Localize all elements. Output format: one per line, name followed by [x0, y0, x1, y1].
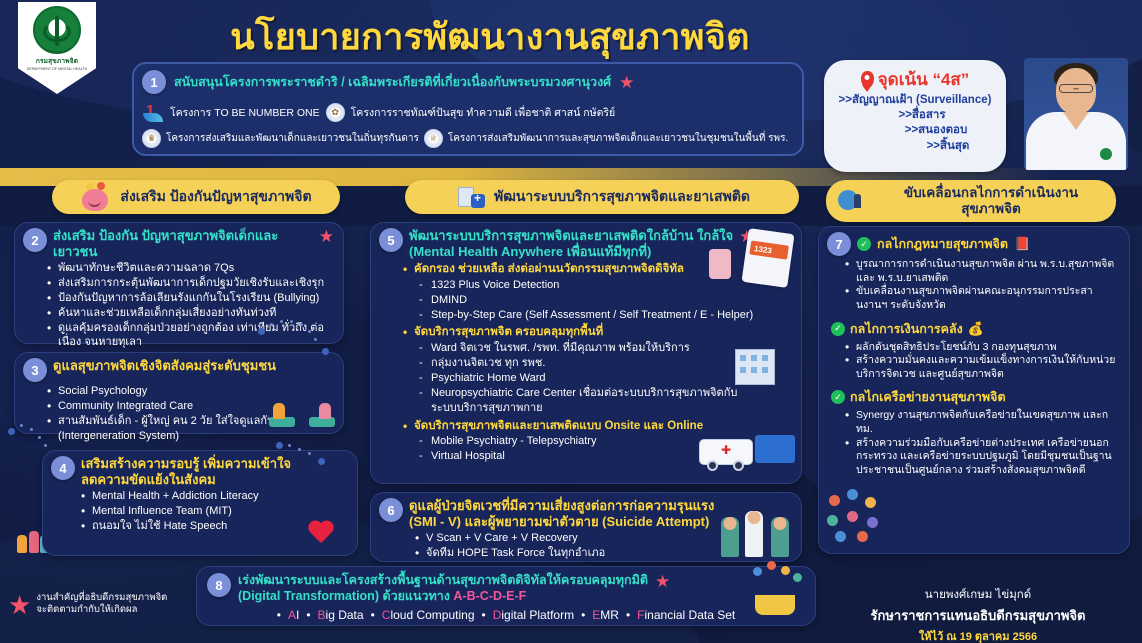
caduceus-icon [33, 6, 81, 54]
title-main: นโยบายการพัฒนางานสุขภาพจิต [230, 8, 750, 65]
keyword-initial: B [318, 608, 326, 622]
card7-group2-bullets: ผลักดันชุดสิทธิประโยชน์กับ 3 กองทุนสุขภา… [845, 341, 1120, 382]
medical-kit-icon [454, 183, 488, 211]
card7-group2-heading: กลไกการเงินการคลัง [850, 319, 963, 339]
royal-project-4: โครงการส่งเสริมพัฒนาการและสุขภาพจิตเด็กแ… [448, 131, 788, 146]
crown-emblem-icon: ♛ [142, 129, 161, 148]
star-icon: ★ [319, 228, 334, 245]
card7-group3-heading: กลไกเครือข่ายงานสุขภาพจิต [850, 387, 1006, 407]
card5-group-3: จัดบริการสุขภาพจิตและยาเสพติดแบบ Onsite … [403, 419, 792, 435]
keyword-rest: igital Platform [501, 608, 574, 622]
card5-group-2-items: Ward จิตเวช ในรพศ. /รพท. ที่มีคุณภาพ พร้… [419, 341, 792, 417]
star-icon: ★ [8, 592, 31, 618]
star-icon: ★ [655, 573, 670, 590]
section-pill-label-line2: สุขภาพจิต [961, 201, 1021, 217]
section-pill-promotion: ส่งเสริม ป้องกันปัญหาสุขภาพจิต [52, 180, 340, 214]
card2-title: ส่งเสริม ป้องกัน ปัญหาสุขภาพจิตเด็กและเย… [53, 228, 313, 259]
royal-project-2: โครงการราชทัณฑ์ปันสุข ทำความดี เพื่อชาติ… [351, 104, 616, 121]
keyword: Cloud Computing [382, 608, 475, 622]
card-psychosocial-community: 3 ดูแลสุขภาพจิตเชิงจิตสังคมสู่ระดับชุมชน… [14, 352, 344, 434]
focus-box-list: >>สัญญาณเฝ้า (Surveillance) >>สื่อสาร >>… [830, 93, 1000, 154]
card8-title-line1: เร่งพัฒนาระบบและโครงสร้างพื้นฐานด้านสุขภ… [238, 573, 648, 589]
section-pill-services: พัฒนาระบบบริการสุขภาพจิตและยาเสพติด [405, 180, 799, 214]
list-item: Mobile Psychiatry - Telepsychiatry [419, 434, 792, 449]
list-item: Synergy งานสุขภาพจิตกับเครือข่ายในเขตสุข… [845, 409, 1120, 436]
footer-note-line1: งานสำคัญที่อธิบดีกรมสุขภาพจิต [36, 592, 167, 603]
keyword: Big Data [318, 608, 364, 622]
section-pill-label: ส่งเสริม ป้องกันปัญหาสุขภาพจิต [120, 186, 311, 208]
focus-box-header: จุดเน้น “4ส” [830, 66, 1000, 93]
group-heading: คัดกรอง ช่วยเหลือ ส่งต่อผ่านนวัตกรรมสุขภ… [403, 262, 792, 278]
card2-bullets: พัฒนาทักษะชีวิตและความฉลาด 7Qs ส่งเสริมก… [47, 261, 334, 350]
keyword: Financial Data Set [637, 608, 735, 622]
list-item: 1323 Plus Voice Detection [419, 278, 792, 293]
item-number-badge-1: 1 [142, 70, 166, 94]
list-item: Mental Influence Team (MIT) [81, 504, 348, 519]
focus-4s-box: จุดเน้น “4ส” >>สัญญาณเฝ้า (Surveillance)… [824, 60, 1006, 172]
department-logo: กรมสุขภาพจิต DEPARTMENT OF MENTAL HEALTH [18, 2, 96, 94]
brain-kids-icon [80, 183, 114, 211]
card-child-youth-prevention: 2 ส่งเสริม ป้องกัน ปัญหาสุขภาพจิตเด็กและ… [14, 222, 344, 344]
card3-title: ดูแลสุขภาพจิตเชิงจิตสังคมสู่ระดับชุมชน [53, 358, 276, 374]
card5-group-1-items: 1323 Plus Voice Detection DMIND Step-by-… [419, 278, 792, 324]
logo-name-en: DEPARTMENT OF MENTAL HEALTH [27, 67, 87, 71]
digital-basket-illustration [749, 561, 807, 615]
logo-name-th: กรมสุขภาพจิต [36, 56, 78, 66]
list-item: V Scan + V Care + V Recovery [415, 531, 792, 546]
signer-name: นายพงศ์เกษม ไข่มุกด์ [828, 586, 1128, 604]
royal-projects-card: 1 สนับสนุนโครงการพระราชดำริ / เฉลิมพระเก… [132, 62, 804, 156]
keyword-rest: ig Data [326, 608, 364, 622]
check-circle-icon: ✓ [831, 390, 845, 404]
item-number-badge-2: 2 [23, 228, 47, 252]
footer-signature: นายพงศ์เกษม ไข่มุกด์ รักษาราชการแทนอธิบด… [828, 586, 1128, 643]
card8-title-line2: (Digital Transformation) ด้วยแนวทาง A-B-… [238, 589, 648, 605]
list-item: ผลักดันชุดสิทธิประโยชน์กับ 3 กองทุนสุขภา… [845, 341, 1120, 355]
royal-seal-icon: ✿ [326, 103, 345, 122]
card-literacy-conflict: 4 เสริมสร้างความรอบรู้ เพิ่มความเข้าใจ ล… [42, 450, 358, 556]
list-item: Community Integrated Care [47, 399, 334, 414]
check-circle-icon: ✓ [857, 237, 871, 251]
money-bag-icon: 💰 [968, 321, 984, 337]
card7-group1-bullets: บูรณาการการดำเนินงานสุขภาพจิต ผ่าน พ.ร.บ… [845, 258, 1120, 313]
card-smi-v-suicide: 6 ดูแลผู้ป่วยจิตเวชที่มีความเสี่ยงสูงต่อ… [370, 492, 802, 562]
signer-position: รักษาราชการแทนอธิบดีกรมสุขภาพจิต [828, 605, 1128, 626]
director-portrait-photo [1024, 58, 1128, 170]
list-item: ส่งเสริมการกระตุ้นพัฒนาการเด็กปฐมวัยเชิง… [47, 276, 334, 291]
keyword: AI [288, 608, 299, 622]
card8-title-line2-pre: (Digital Transformation) ด้วยแนวทาง [238, 589, 453, 603]
card7-group3-bullets: Synergy งานสุขภาพจิตกับเครือข่ายในเขตสุข… [845, 409, 1120, 477]
list-item: ป้องกันปัญหาการล้อเลียนรังแกกันในโรงเรีย… [47, 291, 334, 306]
list-item: Virtual Hospital [419, 449, 792, 464]
keyword-initial: F [637, 608, 644, 622]
card5-header: 5 พัฒนาระบบบริการสุขภาพจิตและยาเสพติดใกล… [379, 228, 792, 259]
law-book-icon: 📕 [1014, 236, 1030, 252]
community-globe-icon [834, 187, 868, 215]
star-icon: ★ [739, 228, 754, 245]
keyword: Digital Platform [493, 608, 574, 622]
signature-date: ให้ไว้ ณ 19 ตุลาคม 2566 [828, 627, 1128, 643]
section-pill-label-line1: ขับเคลื่อนกลไกการดำเนินงาน [904, 185, 1078, 201]
item-number-badge-7: 7 [827, 232, 851, 256]
card2-header: 2 ส่งเสริม ป้องกัน ปัญหาสุขภาพจิตเด็กและ… [23, 228, 334, 259]
list-item: สร้างความร่วมมือกับเครือข่ายต่างประเทศ เ… [845, 437, 1120, 478]
check-circle-icon: ✓ [831, 322, 845, 336]
group-heading: จัดบริการสุขภาพจิตและยาเสพติดแบบ Onsite … [403, 419, 792, 435]
royal-project-3: โครงการส่งเสริมและพัฒนาเด็กและเยาวชนในถิ… [166, 131, 419, 146]
card-driving-mechanisms: 7 ✓ กลไกกฎหมายสุขภาพจิต 📕 บูรณาการการดำเ… [818, 226, 1130, 554]
card5-title-line1: พัฒนาระบบบริการสุขภาพจิตและยาเสพติดใกล้บ… [409, 228, 733, 244]
item-number-badge-4: 4 [51, 456, 75, 480]
footer-note-left: ★ งานสำคัญที่อธิบดีกรมสุขภาพจิต จะติดตาม… [8, 592, 167, 618]
footer-note-line2: จะติดตามกำกับให้เกิดผล [36, 604, 137, 615]
card5-group-1: คัดกรอง ช่วยเหลือ ส่งต่อผ่านนวัตกรรมสุขภ… [403, 262, 792, 278]
focus-box-title: จุดเน้น “4ส” [878, 66, 970, 93]
list-item: ดูแลคุ้มครองเด็กกลุ่มป่วยอย่างถูกต้อง เท… [47, 321, 334, 351]
card4-title-line1: เสริมสร้างความรอบรู้ เพิ่มความเข้าใจ [81, 456, 291, 472]
card3-bullets: Social Psychology Community Integrated C… [47, 384, 334, 443]
item-number-badge-3: 3 [23, 358, 47, 382]
card5-group-3-items: Mobile Psychiatry - Telepsychiatry Virtu… [419, 434, 792, 464]
card8-abcdef: A-B-C-D-E-F [453, 589, 526, 603]
star-icon: ★ [619, 74, 634, 91]
keyword-rest: MR [600, 608, 619, 622]
card7-header: 7 ✓ กลไกกฎหมายสุขภาพจิต 📕 [827, 232, 1120, 256]
card-service-system-development: 5 พัฒนาระบบบริการสุขภาพจิตและยาเสพติดใกล… [370, 222, 802, 484]
card3-header: 3 ดูแลสุขภาพจิตเชิงจิตสังคมสู่ระดับชุมชน [23, 358, 334, 382]
royal-card-title: สนับสนุนโครงการพระราชดำริ / เฉลิมพระเกีย… [174, 72, 611, 92]
keyword-rest: inancial Data Set [645, 608, 736, 622]
card6-header: 6 ดูแลผู้ป่วยจิตเวชที่มีความเสี่ยงสูงต่อ… [379, 498, 792, 529]
card4-header: 4 เสริมสร้างความรอบรู้ เพิ่มความเข้าใจ ล… [51, 456, 348, 487]
list-item: กลุ่มงานจิตเวช ทุก รพช. [419, 356, 792, 371]
to-be-number-one-icon: 1 [142, 101, 164, 123]
keyword-rest: loud Computing [390, 608, 474, 622]
list-item: สร้างความมั่นคงและความเข้มแข็งทางการเงิน… [845, 354, 1120, 381]
card-digital-transformation: 8 เร่งพัฒนาระบบและโครงสร้างพื้นฐานด้านสุ… [196, 566, 816, 626]
royal-projects-row-1: 1 โครงการ TO BE NUMBER ONE ✿ โครงการราชท… [142, 101, 792, 123]
location-pin-icon [861, 71, 874, 88]
keyword-rest: I [296, 608, 299, 622]
list-item: พัฒนาทักษะชีวิตและความฉลาด 7Qs [47, 261, 334, 276]
list-item: Psychiatric Home Ward [419, 371, 792, 386]
keyword: EMR [592, 608, 619, 622]
list-item: Ward จิตเวช ในรพศ. /รพท. ที่มีคุณภาพ พร้… [419, 341, 792, 356]
card7-group1-heading: กลไกกฎหมายสุขภาพจิต [877, 234, 1008, 254]
list-item: Mental Health + Addiction Literacy [81, 489, 348, 504]
list-item: ค้นหาและช่วยเหลือเด็กกลุ่มเสี่ยงอย่างทัน… [47, 306, 334, 321]
section-pill-label: พัฒนาระบบบริการสุขภาพจิตและยาเสพติด [494, 186, 750, 208]
list-item: Social Psychology [47, 384, 334, 399]
royal-project-1: โครงการ TO BE NUMBER ONE [170, 104, 320, 121]
keyword-initial: A [288, 608, 296, 622]
focus-item: >>สัญญาณเฝ้า (Surveillance) [830, 93, 1000, 108]
list-item: สานสัมพันธ์เด็ก - ผู้ใหญ่ คน 2 วัย ใส่ใจ… [47, 414, 334, 444]
item-number-badge-5: 5 [379, 228, 403, 252]
list-item: DMIND [419, 293, 792, 308]
infographic-poster: กรมสุขภาพจิต DEPARTMENT OF MENTAL HEALTH… [0, 0, 1142, 643]
network-people-illustration [825, 489, 887, 545]
item-number-badge-8: 8 [207, 573, 231, 597]
card4-bullets: Mental Health + Addiction Literacy Menta… [81, 489, 348, 534]
royal-card-header: 1 สนับสนุนโครงการพระราชดำริ / เฉลิมพระเก… [142, 70, 792, 94]
card7-group3-header: ✓ กลไกเครือข่ายงานสุขภาพจิต [831, 387, 1120, 407]
group-heading: จัดบริการสุขภาพจิต ครอบคลุมทุกพื้นที่ [403, 325, 792, 341]
list-item: ขับเคลื่อนงานสุขภาพจิตผ่านคณะอนุกรรมการป… [845, 285, 1120, 312]
royal-hospital-icon: ♕ [424, 129, 443, 148]
footer-note-text: งานสำคัญที่อธิบดีกรมสุขภาพจิต จะติดตามกำ… [36, 592, 167, 617]
list-item: บูรณาการการดำเนินงานสุขภาพจิต ผ่าน พ.ร.บ… [845, 258, 1120, 285]
royal-projects-row-2: ♛ โครงการส่งเสริมและพัฒนาเด็กและเยาวชนใน… [142, 129, 792, 148]
focus-item: >>สื่อสาร [830, 108, 1000, 123]
card5-title-line2: (Mental Health Anywhere เพื่อนแท้มีทุกที… [409, 244, 733, 260]
card6-title-line1: ดูแลผู้ป่วยจิตเวชที่มีความเสี่ยงสูงต่อกา… [409, 498, 714, 514]
focus-item: >>สนองตอบ [830, 123, 1000, 138]
list-item: จัดทีม HOPE Task Force ในทุกอำเภอ [415, 546, 792, 561]
section-pill-mechanisms: ขับเคลื่อนกลไกการดำเนินงาน สุขภาพจิต [826, 180, 1116, 222]
card8-header: 8 เร่งพัฒนาระบบและโครงสร้างพื้นฐานด้านสุ… [207, 573, 805, 604]
card7-group2-header: ✓ กลไกการเงินการคลัง 💰 [831, 319, 1120, 339]
item-number-badge-6: 6 [379, 498, 403, 522]
list-item: ถนอมใจ ไม่ใช้ Hate Speech [81, 519, 348, 534]
card6-bullets: V Scan + V Care + V Recovery จัดทีม HOPE… [415, 531, 792, 561]
card8-keywords: •AI •Big Data •Cloud Computing •Digital … [207, 608, 805, 622]
card5-group-2: จัดบริการสุขภาพจิต ครอบคลุมทุกพื้นที่ [403, 325, 792, 341]
list-item: Neuropsychiatric Care Center เชื่อมต่อระ… [419, 386, 749, 416]
card6-title-line2: (SMI - V) และผู้พยายามฆ่าตัวตาย (Suicide… [409, 514, 714, 530]
list-item: Step-by-Step Care (Self Assessment / Sel… [419, 308, 792, 323]
uniform-emblem-icon [1100, 148, 1112, 160]
focus-item: >>สิ้นสุด [830, 139, 1000, 154]
card4-title-line2: ลดความขัดแย้งในสังคม [81, 472, 291, 488]
